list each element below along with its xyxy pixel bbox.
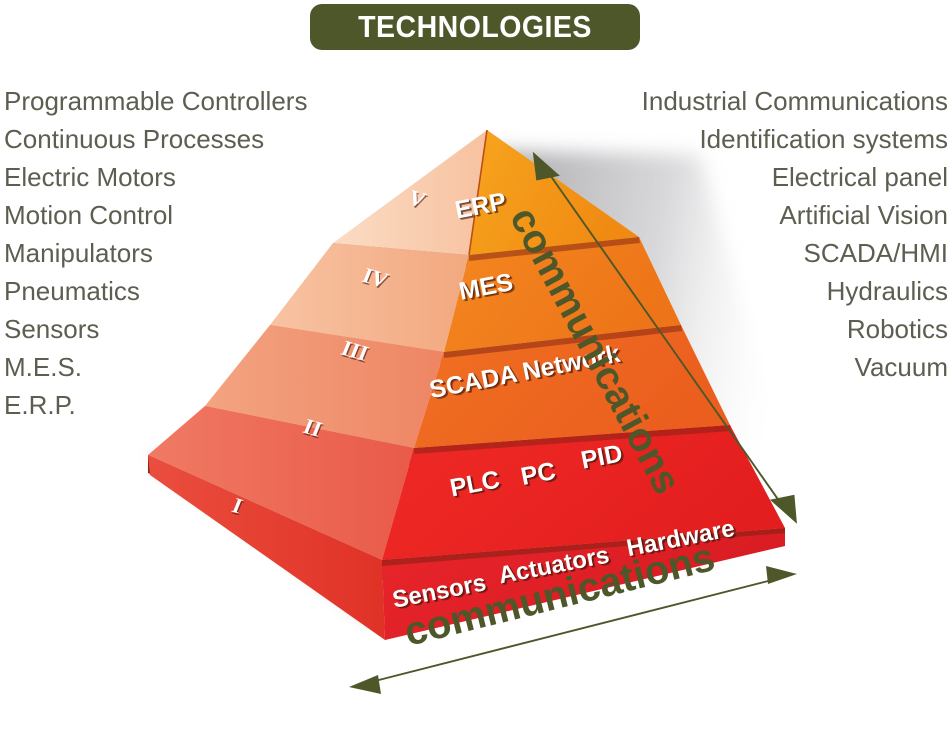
diagram-canvas: TECHNOLOGIES Programmable Controllers Co… (0, 0, 950, 740)
arrow-head-right-icon (766, 566, 797, 584)
arrow-head-left-icon (349, 675, 381, 694)
level-5-left-face (333, 130, 487, 255)
pyramid-graphic (0, 0, 950, 740)
